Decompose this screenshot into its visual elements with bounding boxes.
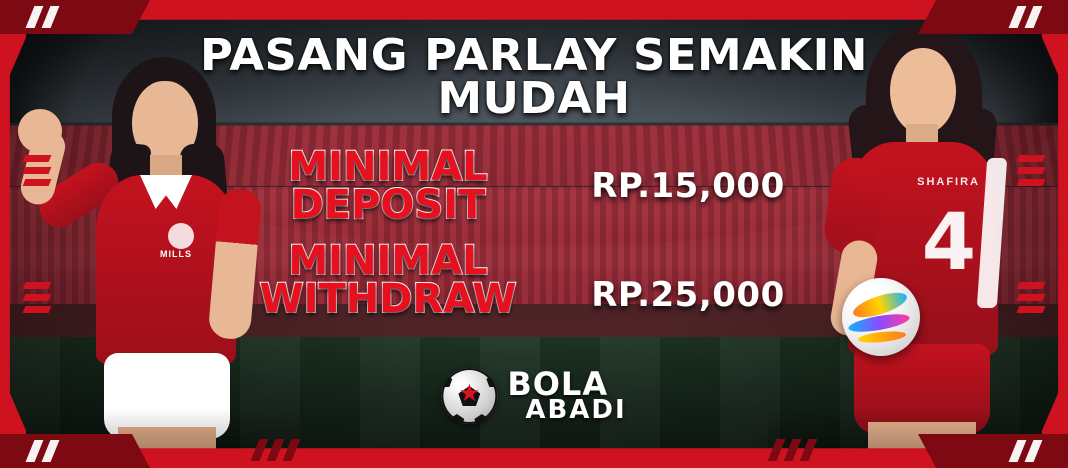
offer-row-withdraw: MINIMAL WITHDRAW RP.25,000 bbox=[238, 242, 838, 318]
headline-line-2: MUDAH bbox=[0, 77, 1068, 120]
diagonal-slash-icon bbox=[255, 439, 296, 461]
offer-label-withdraw: MINIMAL WITHDRAW bbox=[238, 242, 538, 318]
chevron-stripe-icon bbox=[24, 150, 50, 191]
diagonal-slash-icon bbox=[30, 6, 55, 28]
ball-panel-4 bbox=[474, 414, 489, 424]
brand-name-bottom: ABADI bbox=[525, 399, 626, 421]
ball-panel-2 bbox=[486, 374, 497, 387]
diagonal-slash-icon bbox=[1013, 6, 1038, 28]
chevron-stripe-icon bbox=[1018, 150, 1044, 191]
brand-logo-text: BOLA ABADI bbox=[507, 371, 626, 421]
offer-list: MINIMAL DEPOSIT RP.15,000 MINIMAL WITHDR… bbox=[238, 148, 838, 326]
chevron-stripe-icon bbox=[1018, 277, 1044, 318]
brand-logo[interactable]: ★ BOLA ABADI bbox=[441, 368, 626, 424]
frame-corner-top-left bbox=[0, 0, 150, 34]
banner-headline: PASANG PARLAY SEMAKIN MUDAH bbox=[0, 34, 1068, 120]
diagonal-slash-icon bbox=[1013, 440, 1038, 462]
offer-label-deposit-line2: DEPOSIT bbox=[238, 186, 538, 224]
frame-corner-top-right bbox=[918, 0, 1068, 34]
promo-banner[interactable]: MILLS SHAFIRA 4 PASANG PARLAY SEMAKIN bbox=[0, 0, 1068, 468]
offer-label-deposit: MINIMAL DEPOSIT bbox=[238, 148, 538, 224]
diagonal-slash-icon bbox=[30, 440, 55, 462]
offer-label-withdraw-line2: WITHDRAW bbox=[238, 280, 538, 318]
star-icon: ★ bbox=[459, 382, 481, 406]
soccer-ball-icon: ★ bbox=[441, 368, 497, 424]
frame-corner-bottom-left bbox=[0, 434, 150, 468]
ball-panel-3 bbox=[449, 414, 464, 424]
offer-row-deposit: MINIMAL DEPOSIT RP.15,000 bbox=[238, 148, 838, 224]
offer-amount-deposit: RP.15,000 bbox=[538, 166, 838, 206]
ball-panel-1 bbox=[441, 374, 452, 387]
offer-amount-withdraw: RP.25,000 bbox=[538, 245, 838, 315]
frame-corner-bottom-right bbox=[918, 434, 1068, 468]
chevron-stripe-icon bbox=[24, 277, 50, 318]
diagonal-slash-icon bbox=[772, 439, 813, 461]
